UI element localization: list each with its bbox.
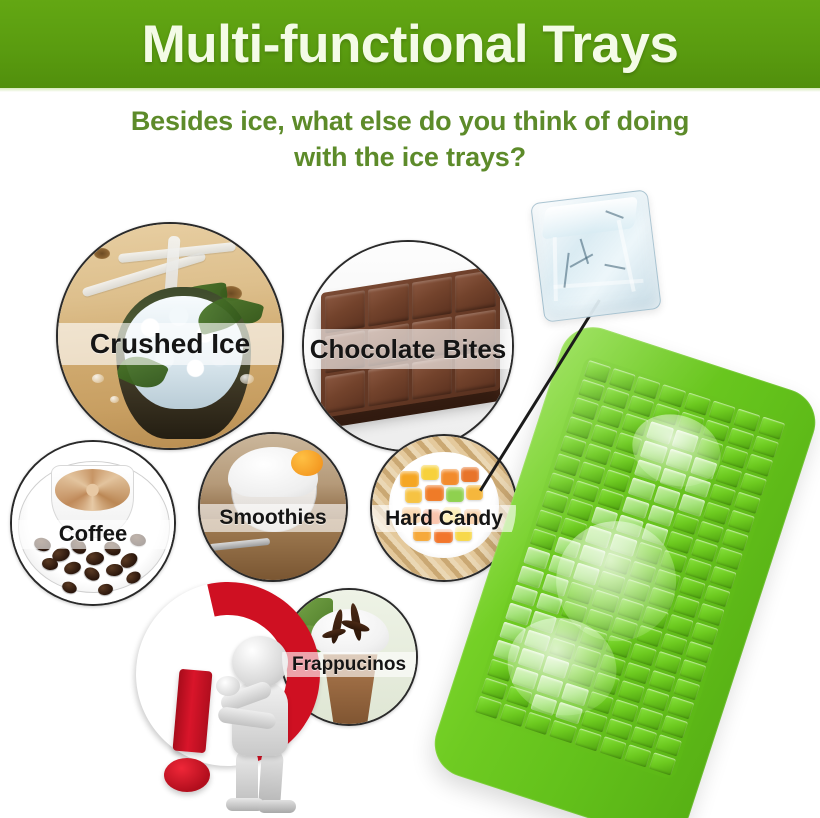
use-case-label: Hard Candy xyxy=(385,508,503,529)
figure-foot-right xyxy=(258,800,296,813)
tray-cell xyxy=(535,509,562,532)
figure-head xyxy=(232,636,288,688)
subtitle-line-1: Besides ice, what else do you think of d… xyxy=(50,104,770,140)
tray-cell-grid xyxy=(470,355,790,781)
tray-cell xyxy=(617,598,644,621)
tray-cell xyxy=(537,675,564,698)
chocolate-square xyxy=(325,291,365,334)
orange-slice-icon xyxy=(291,450,323,476)
tray-cell xyxy=(616,432,643,455)
tray-cell xyxy=(708,400,735,423)
water-droplet-icon xyxy=(240,374,254,384)
caption-band: Hard Candy xyxy=(370,505,518,532)
tray-cell xyxy=(691,622,718,645)
tray-cell xyxy=(609,368,636,391)
wood-knot-icon xyxy=(94,248,110,259)
ice-cube-top-face xyxy=(542,196,638,239)
tray-cell xyxy=(592,590,619,613)
subtitle: Besides ice, what else do you think of d… xyxy=(50,104,770,175)
tray-cell xyxy=(683,392,710,415)
tray-cell xyxy=(666,614,693,637)
gummy-icon xyxy=(400,471,419,487)
tray-cell xyxy=(525,712,552,735)
tray-cell xyxy=(512,667,539,690)
caption-band: Frappucinos xyxy=(280,652,418,677)
ice-cube-body xyxy=(530,189,662,322)
chocolate-square xyxy=(325,370,365,413)
tray-cell xyxy=(554,453,581,476)
ice-crack xyxy=(563,253,569,288)
subtitle-line-2: with the ice trays? xyxy=(50,140,770,176)
tray-cell xyxy=(517,565,544,588)
tray-cell xyxy=(584,360,611,383)
use-case-label: Frappucinos xyxy=(292,655,406,674)
ice-crack xyxy=(604,264,625,270)
tray-cell xyxy=(649,753,676,776)
caption-band: Coffee xyxy=(10,520,176,549)
water-droplet-icon xyxy=(92,374,104,383)
tray-cell xyxy=(636,707,663,730)
question-mark-graphic xyxy=(128,578,308,808)
caption-band: Crushed Ice xyxy=(56,323,284,366)
tray-cell xyxy=(740,473,767,496)
caption-band: Chocolate Bites xyxy=(302,329,514,369)
tray-cell xyxy=(542,573,569,596)
use-case-label: Smoothies xyxy=(219,507,326,528)
silicone-tray xyxy=(426,318,820,818)
tray-cell xyxy=(586,691,613,714)
use-case-label: Coffee xyxy=(59,523,127,545)
tray-cell xyxy=(574,728,601,751)
header-banner: Multi-functional Trays xyxy=(0,0,820,88)
header-divider xyxy=(0,88,820,92)
tray-cell xyxy=(640,440,667,463)
tray-cell xyxy=(591,424,618,447)
tray-cell xyxy=(624,745,651,768)
tray-cell xyxy=(685,558,712,581)
tray-cell xyxy=(475,696,502,719)
ice-crack xyxy=(570,254,593,268)
water-droplet-icon xyxy=(110,396,119,403)
tray-cell xyxy=(561,683,588,706)
chocolate-square xyxy=(412,277,452,320)
use-case-crushed-ice: Crushed Ice xyxy=(56,222,284,450)
figure-hand xyxy=(216,676,240,696)
tray-cell xyxy=(690,456,717,479)
tray-cell xyxy=(500,704,527,727)
use-case-label: Chocolate Bites xyxy=(310,336,507,362)
tray-cell xyxy=(659,384,686,407)
tray-cell xyxy=(634,376,661,399)
tray-cell xyxy=(665,448,692,471)
tray-cell xyxy=(599,736,626,759)
tray-cell xyxy=(709,566,736,589)
tray-cell xyxy=(642,606,669,629)
tray-cell xyxy=(611,699,638,722)
chocolate-square xyxy=(368,364,408,407)
tray-cell xyxy=(567,582,594,605)
latte-art xyxy=(55,469,130,510)
tray-cell xyxy=(660,550,687,573)
tray-cell xyxy=(661,715,688,738)
caption-band: Smoothies xyxy=(198,504,348,532)
gummy-icon xyxy=(405,488,423,503)
use-case-label: Crushed Ice xyxy=(90,330,250,358)
tray-cell xyxy=(487,659,514,682)
promo-image: Multi-functional Trays Besides ice, what… xyxy=(0,0,820,818)
tray-cell xyxy=(758,417,785,440)
tray-cell xyxy=(566,416,593,439)
chocolate-square xyxy=(455,270,495,313)
tray-cell xyxy=(635,542,662,565)
tray-cell xyxy=(549,720,576,743)
ice-cube xyxy=(530,189,662,322)
page-title: Multi-functional Trays xyxy=(142,18,679,71)
tray-cell xyxy=(715,464,742,487)
ice-tray-product xyxy=(436,330,820,818)
tray-cell xyxy=(733,408,760,431)
use-case-smoothies: Smoothies xyxy=(198,432,348,582)
tray-cell xyxy=(610,534,637,557)
tray-cell xyxy=(585,526,612,549)
chocolate-square xyxy=(368,284,408,327)
tray-cell xyxy=(560,517,587,540)
ice-facet xyxy=(553,237,558,301)
